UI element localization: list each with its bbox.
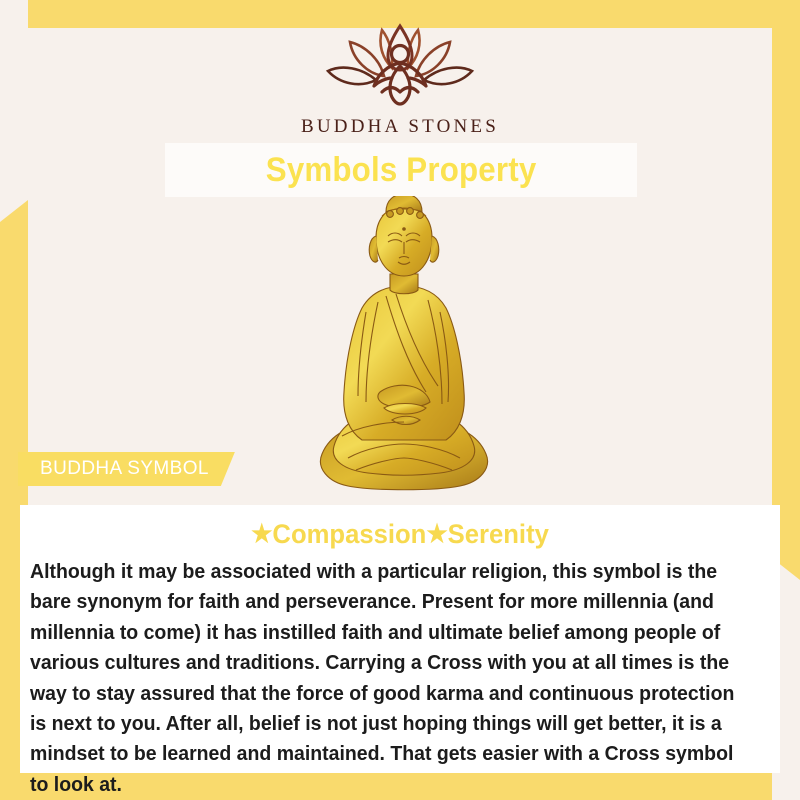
buddha-symbol-ribbon: BUDDHA SYMBOL: [18, 452, 235, 486]
attribute-serenity: Serenity: [448, 519, 549, 549]
ribbon-label: BUDDHA SYMBOL: [40, 458, 209, 480]
lotus-meditation-icon: [320, 22, 480, 108]
title-banner: Symbols Property: [165, 143, 637, 197]
description-paragraph: Although it may be associated with a par…: [30, 557, 739, 800]
star-icon-2: ★: [426, 520, 447, 548]
brand-logo: BUDDHA STONES: [0, 22, 800, 138]
poster-root: BUDDHA STONES Symbols Property: [0, 0, 800, 800]
brand-name: BUDDHA STONES: [301, 116, 499, 138]
star-icon-1: ★: [251, 520, 272, 548]
attributes-subtitle: ★Compassion★Serenity: [39, 519, 761, 550]
seated-buddha-statue: [300, 196, 508, 506]
page-title: Symbols Property: [266, 151, 537, 190]
content-panel: ★Compassion★Serenity Although it may be …: [20, 505, 780, 773]
attribute-compassion: Compassion: [272, 519, 426, 549]
